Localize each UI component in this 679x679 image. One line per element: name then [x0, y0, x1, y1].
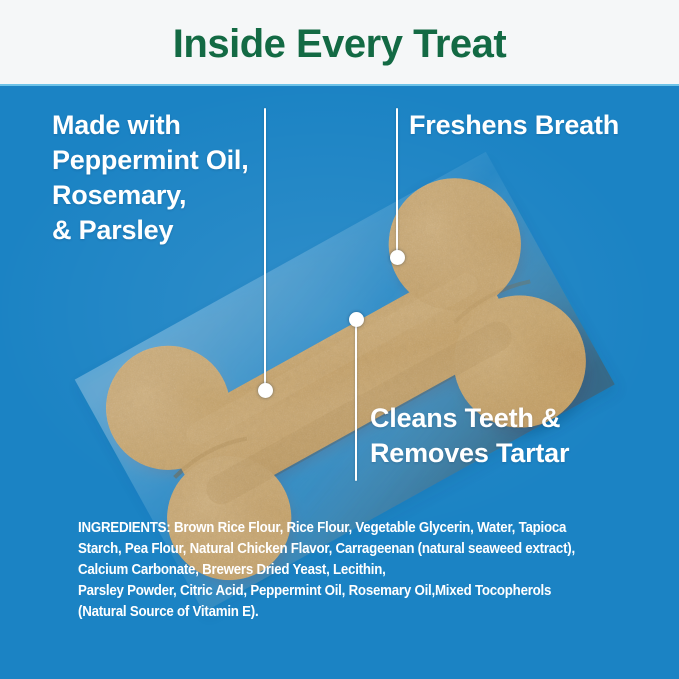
blue-content-panel: Made with Peppermint Oil, Rosemary, & Pa…	[0, 86, 679, 679]
callout-cleans-teeth: Cleans Teeth & Removes Tartar	[370, 401, 569, 471]
callout-made-with: Made with Peppermint Oil, Rosemary, & Pa…	[52, 108, 249, 248]
infographic-page: Inside Every Treat	[0, 0, 679, 679]
leader-dot-cleans-teeth	[349, 312, 364, 327]
leader-dot-freshens-breath	[390, 250, 405, 265]
page-title: Inside Every Treat	[0, 22, 679, 67]
callout-freshens-breath: Freshens Breath	[409, 108, 619, 143]
leader-line-cleans-teeth	[355, 319, 357, 481]
ingredients-list: INGREDIENTS: Brown Rice Flour, Rice Flou…	[78, 518, 585, 623]
leader-dot-made-with	[258, 383, 273, 398]
leader-line-made-with	[264, 108, 266, 392]
header-bar: Inside Every Treat	[0, 0, 679, 86]
leader-line-freshens-breath	[396, 108, 398, 260]
